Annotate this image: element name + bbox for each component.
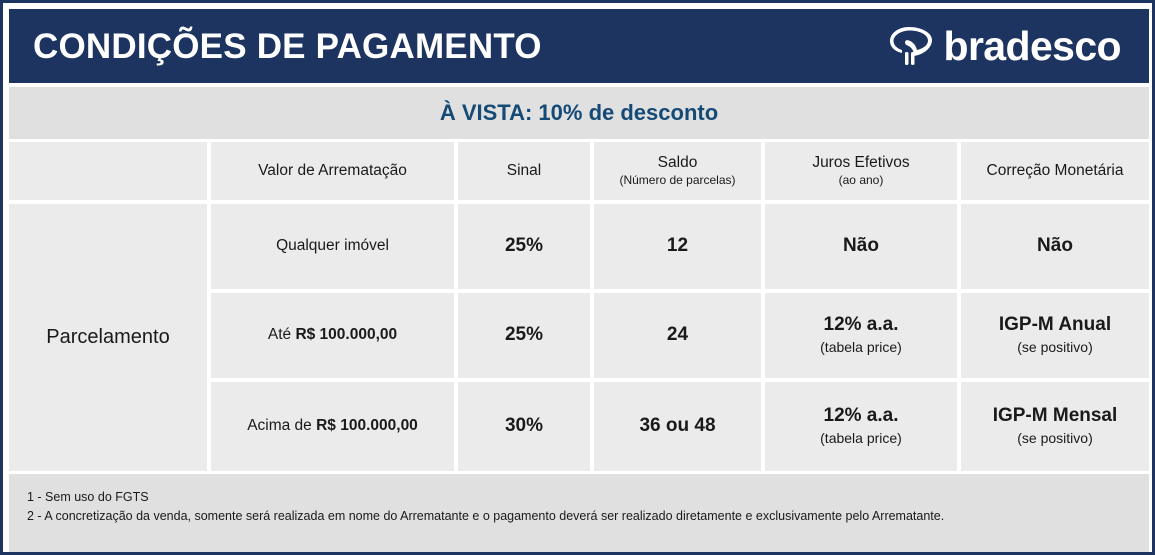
table-row: 25% (458, 293, 590, 378)
table-row: 30% (458, 382, 590, 471)
column-header-subtitle: (ao ano) (839, 173, 884, 187)
footer-note-1: 1 - Sem uso do FGTS (27, 488, 1133, 507)
cell-juros: 12% a.a. (824, 314, 899, 337)
cell-correcao-note: (se positivo) (1017, 339, 1092, 357)
payment-conditions-card: CONDIÇÕES DE PAGAMENTO bradesco À VISTA:… (0, 0, 1155, 555)
cell-valor-amount: R$ 100.000,00 (295, 326, 397, 343)
cell-juros: 12% a.a. (824, 405, 899, 428)
cell-saldo: 24 (667, 324, 688, 347)
cell-sinal: 30% (505, 415, 543, 438)
cell-correcao: IGP-M Anual (999, 314, 1111, 337)
cell-correcao: IGP-M Mensal (993, 405, 1118, 428)
column-header-title: Saldo (658, 154, 698, 172)
cell-juros: Não (843, 235, 879, 258)
column-header-title: Juros Efetivos (812, 154, 909, 172)
cell-juros-note: (tabela price) (820, 430, 902, 448)
conditions-table: Valor de Arrematação Sinal Saldo (Número… (9, 142, 1149, 471)
table-corner-cell (9, 142, 207, 200)
column-header-saldo: Saldo (Número de parcelas) (594, 142, 761, 200)
section-label-text: Parcelamento (46, 326, 169, 349)
cell-valor-prefix: Qualquer imóvel (276, 237, 389, 254)
table-row: 12% a.a. (tabela price) (765, 293, 957, 378)
table-row: Até R$ 100.000,00 (211, 293, 454, 378)
table-row: 24 (594, 293, 761, 378)
table-row: IGP-M Mensal (se positivo) (961, 382, 1149, 471)
table-row: 36 ou 48 (594, 382, 761, 471)
brand-wordmark: bradesco (944, 26, 1122, 67)
cell-sinal: 25% (505, 324, 543, 347)
cell-valor: Qualquer imóvel (276, 237, 389, 256)
cell-valor-amount: R$ 100.000,00 (316, 417, 418, 434)
column-header-title: Sinal (507, 162, 541, 180)
cell-saldo: 36 ou 48 (639, 415, 715, 438)
table-row: 12 (594, 204, 761, 289)
page-title: CONDIÇÕES DE PAGAMENTO (33, 29, 542, 64)
bradesco-tree-icon (887, 23, 937, 69)
cell-sinal: 25% (505, 235, 543, 258)
column-header-title: Valor de Arrematação (258, 162, 407, 180)
cell-valor: Acima de R$ 100.000,00 (247, 417, 418, 436)
footer-note-2: 2 - A concretização da venda, somente se… (27, 507, 1133, 526)
table-row: Acima de R$ 100.000,00 (211, 382, 454, 471)
header-bar: CONDIÇÕES DE PAGAMENTO bradesco (9, 9, 1149, 83)
table-row: 12% a.a. (tabela price) (765, 382, 957, 471)
cell-valor: Até R$ 100.000,00 (268, 326, 397, 345)
section-label-parcelamento: Parcelamento (9, 204, 207, 471)
table-row: Não (765, 204, 957, 289)
cell-correcao: Não (1037, 235, 1073, 258)
bradesco-logo: bradesco (887, 23, 1128, 69)
footer-notes: 1 - Sem uso do FGTS 2 - A concretização … (9, 474, 1149, 552)
discount-banner: À VISTA: 10% de desconto (9, 87, 1149, 139)
table-row: Não (961, 204, 1149, 289)
column-header-title: Correção Monetária (987, 162, 1124, 180)
column-header-juros: Juros Efetivos (ao ano) (765, 142, 957, 200)
table-row: Qualquer imóvel (211, 204, 454, 289)
cell-juros-note: (tabela price) (820, 339, 902, 357)
column-header-valor: Valor de Arrematação (211, 142, 454, 200)
cell-valor-prefix: Até (268, 326, 296, 343)
cell-saldo: 12 (667, 235, 688, 258)
column-header-correcao: Correção Monetária (961, 142, 1149, 200)
table-row: IGP-M Anual (se positivo) (961, 293, 1149, 378)
column-header-subtitle: (Número de parcelas) (619, 173, 735, 187)
discount-text: À VISTA: 10% de desconto (440, 102, 718, 124)
cell-valor-prefix: Acima de (247, 417, 316, 434)
table-row: 25% (458, 204, 590, 289)
cell-correcao-note: (se positivo) (1017, 430, 1092, 448)
column-header-sinal: Sinal (458, 142, 590, 200)
